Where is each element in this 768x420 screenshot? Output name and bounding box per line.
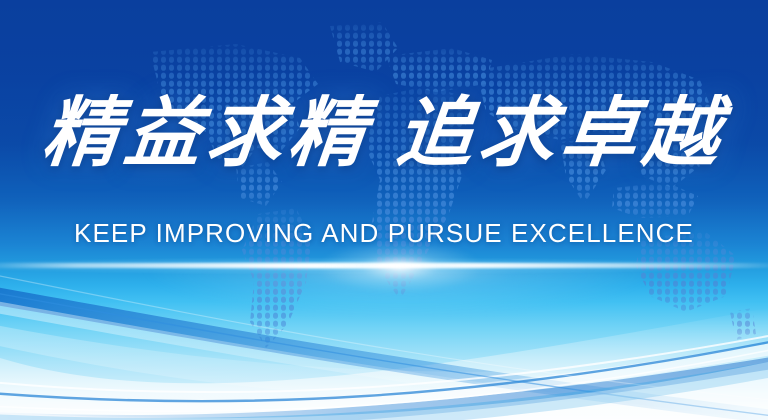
hero-banner: 精益求精追求卓越 KEEP IMPROVING AND PURSUE EXCEL…	[0, 0, 768, 420]
headline-chinese-part-2: 追求卓越	[393, 91, 730, 176]
subtitle-english: KEEP IMPROVING AND PURSUE EXCELLENCE	[0, 218, 768, 248]
headline-chinese: 精益求精追求卓越	[0, 92, 768, 176]
headline-chinese-part-1: 精益求精	[39, 91, 376, 176]
